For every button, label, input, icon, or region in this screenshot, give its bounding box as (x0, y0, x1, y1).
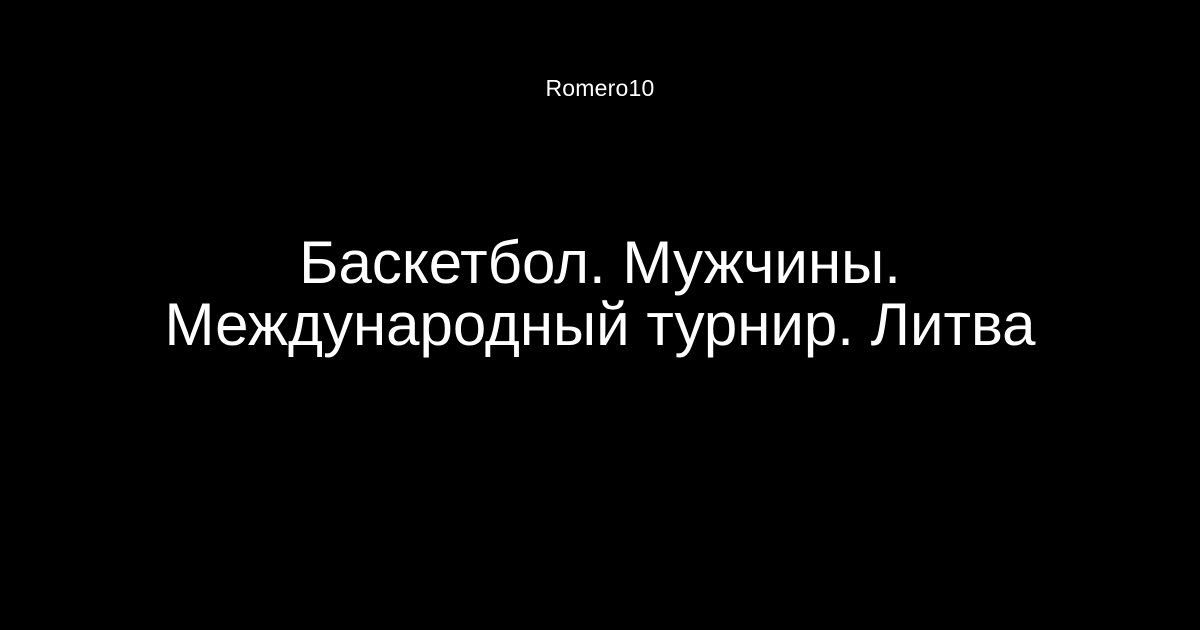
author-byline: Romero10 (546, 72, 655, 104)
share-card: Romero10 Баскетбол. Мужчины. Международн… (0, 0, 1200, 630)
page-title-line-1: Баскетбол. Мужчины. (60, 232, 1140, 294)
page-title-line-2: Международный турнир. Литва (60, 294, 1140, 356)
page-title: Баскетбол. Мужчины. Международный турнир… (0, 232, 1200, 356)
headline-block: Баскетбол. Мужчины. Международный турнир… (0, 232, 1200, 356)
byline-row: Romero10 (0, 72, 1200, 104)
